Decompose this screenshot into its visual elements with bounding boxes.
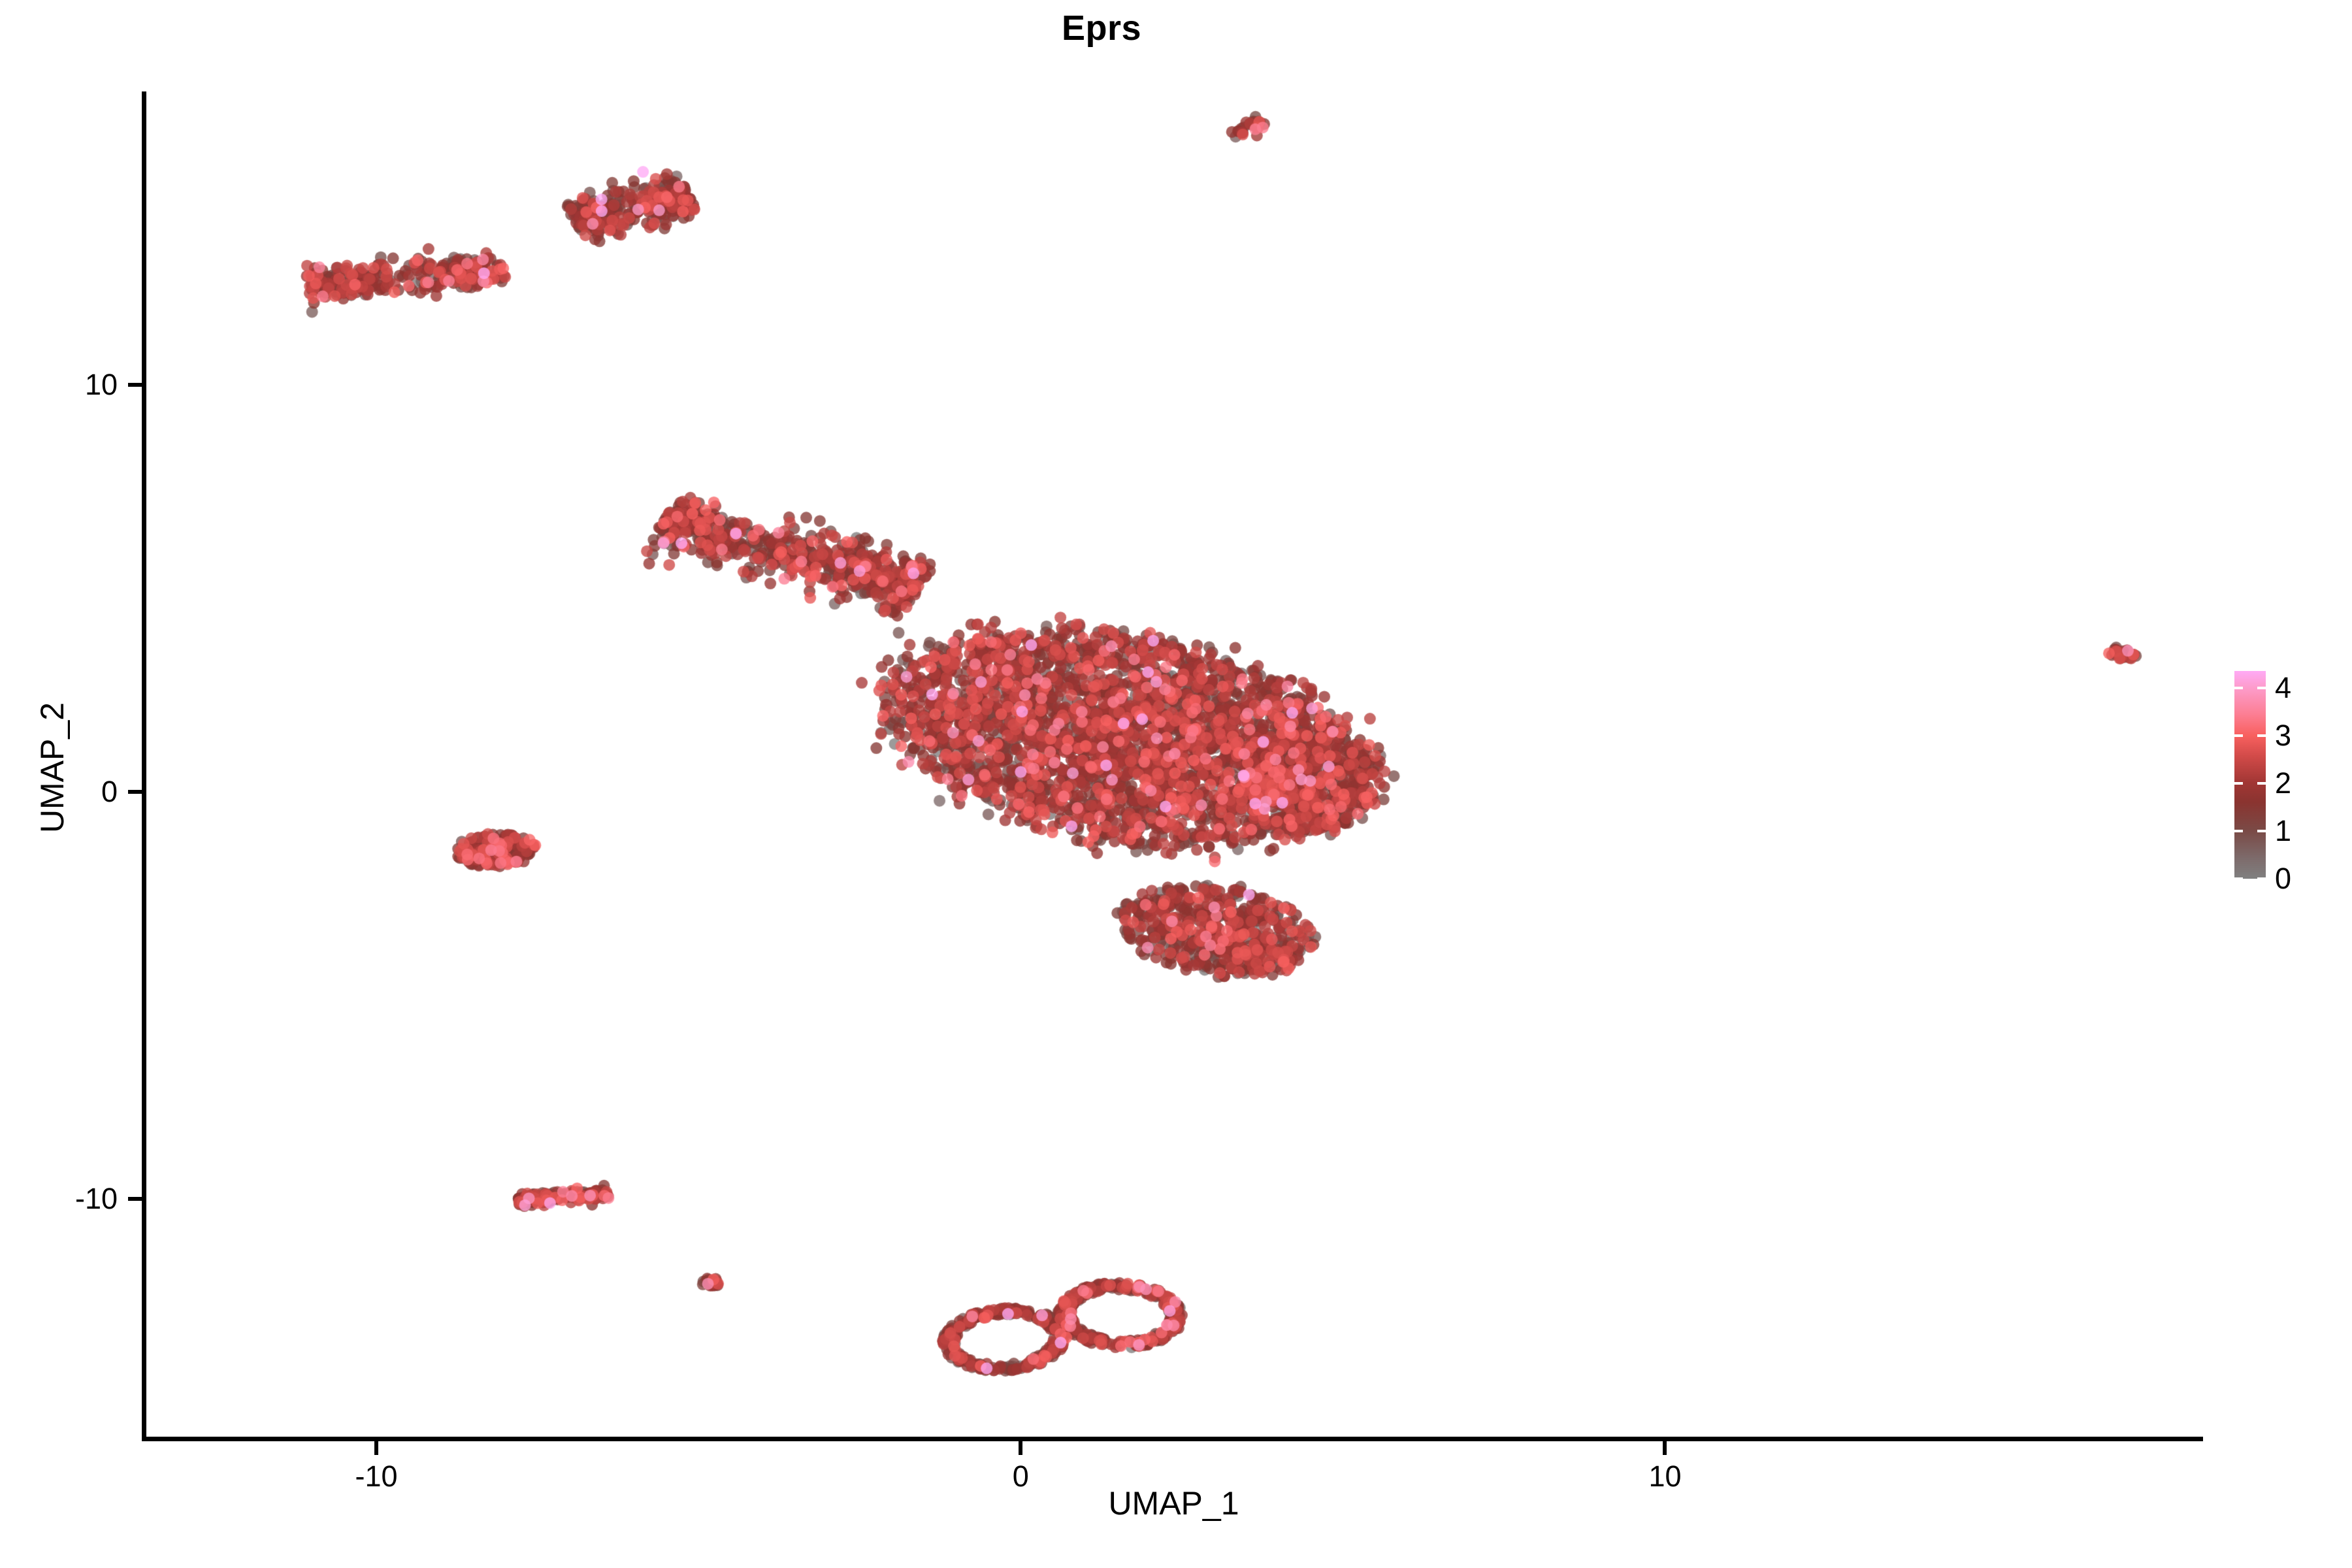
y-tick-mark [128,1197,142,1201]
color-legend: 01234 [2234,666,2345,889]
page-title: Eprs [0,8,2203,48]
legend-tick-label: 1 [2275,816,2291,845]
x-axis-line [142,1437,2203,1441]
x-tick-mark [1019,1441,1022,1455]
legend-tick-label: 3 [2275,721,2291,750]
y-tick-mark [128,790,142,794]
legend-tick-label: 2 [2275,768,2291,798]
x-tick-mark [374,1441,378,1455]
y-tick-label: -10 [0,1182,118,1216]
y-axis-line [142,91,146,1441]
umap-feature-plot: Eprs -10010-10010 UMAP_1 UMAP_2 01234 [0,0,2352,1568]
x-axis-title: UMAP_1 [144,1484,2203,1522]
y-tick-mark [128,383,142,387]
legend-colorbar [2234,671,2266,879]
legend-tick-label: 0 [2275,864,2291,893]
legend-tick-label: 4 [2275,673,2291,702]
y-axis-title: UMAP_2 [33,441,71,1094]
scatter-plot-canvas [144,91,2203,1439]
y-tick-label: 10 [0,368,118,402]
x-tick-mark [1663,1441,1667,1455]
